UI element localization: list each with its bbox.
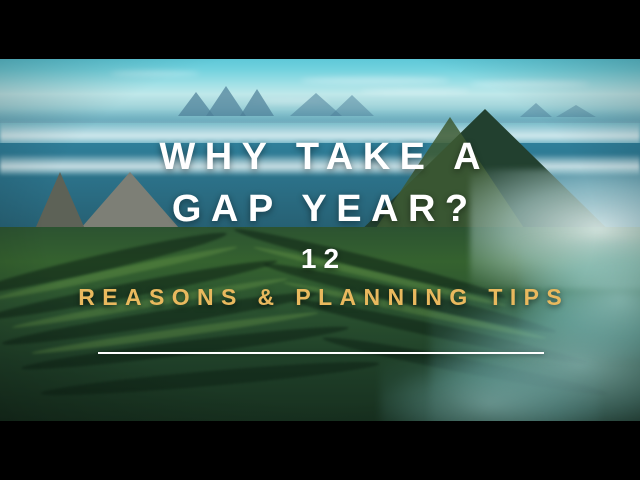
video-thumbnail: WHY TAKE A GAP YEAR? 12 REASONS & PLANNI… xyxy=(0,0,640,480)
title-line-1: WHY TAKE A xyxy=(0,138,640,176)
letterbox-bottom xyxy=(0,421,640,480)
title-line-2: GAP YEAR? xyxy=(0,190,640,228)
subtitle: REASONS & PLANNING TIPS xyxy=(0,286,640,309)
letterbox-top xyxy=(0,0,640,59)
divider-line xyxy=(98,352,544,354)
text-overlay: WHY TAKE A GAP YEAR? 12 REASONS & PLANNI… xyxy=(0,59,640,421)
count-number: 12 xyxy=(0,245,640,273)
